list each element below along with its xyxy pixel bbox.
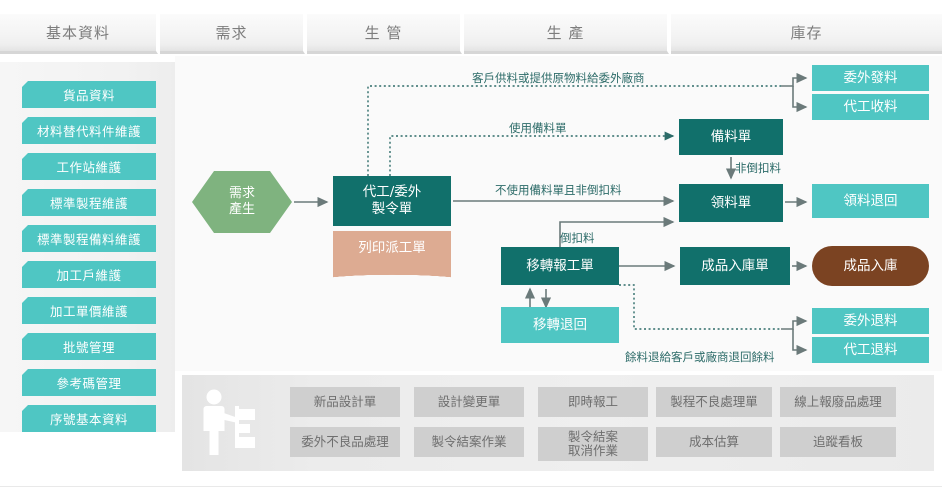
tab-5[interactable]: 庫存 — [671, 14, 942, 54]
function-chip-10[interactable]: 追蹤看板 — [780, 427, 896, 457]
person-flowchart-icon — [194, 385, 260, 461]
flow-node-prep[interactable]: 備料單 — [679, 119, 783, 155]
flow-edge-label-2: 使用備料單 — [509, 120, 567, 136]
flow-node-issueret[interactable]: 領料退回 — [812, 184, 929, 218]
sidebar-item-3[interactable]: 工作站維護 — [22, 153, 156, 180]
sidebar-item-1[interactable]: 貨品資料 — [22, 81, 156, 108]
flow-node-outreturn[interactable]: 委外退料 — [812, 308, 929, 334]
flow-node-fgdoc[interactable]: 成品入庫單 — [680, 247, 790, 285]
flow-node-moveret[interactable]: 移轉退回 — [501, 307, 619, 343]
bottom-function-strip: 新品設計單設計變更單即時報工製程不良處理單線上報廢品處理委外不良品處理製令結案作… — [182, 375, 934, 471]
function-chip-5[interactable]: 線上報廢品處理 — [780, 387, 896, 417]
flow-node-outrecv[interactable]: 代工收料 — [812, 94, 929, 120]
sidebar-item-7[interactable]: 加工單價維護 — [22, 297, 156, 324]
sidebar-item-9[interactable]: 參考碼管理 — [22, 369, 156, 396]
function-chip-4[interactable]: 製程不良處理單 — [656, 387, 772, 417]
footer-divider — [0, 486, 942, 487]
flow-node-issue[interactable]: 領料單 — [679, 184, 783, 222]
flow-edge-label-6: 餘料退給客戶或廠商退回餘料 — [625, 349, 775, 365]
flow-node-printwo[interactable]: 列印派工單 — [333, 231, 451, 283]
function-chip-2[interactable]: 設計變更單 — [414, 387, 524, 417]
sidebar-item-2[interactable]: 材料替代料件維護 — [22, 117, 156, 144]
flow-edge-label-5: 倒扣料 — [560, 230, 595, 246]
module-tabbar: 基本資料需求生 管生 產庫存 — [0, 14, 942, 54]
flow-node-subreturn[interactable]: 代工退料 — [812, 337, 929, 363]
function-chip-3[interactable]: 即時報工 — [538, 387, 648, 417]
flow-edge-label-1: 客戶供料或提供原物料給委外廠商 — [472, 70, 645, 86]
sidebar-panel: 貨品資料材料替代料件維護工作站維護標準製程維護標準製程備料維護加工戶維護加工單價… — [0, 62, 175, 432]
tab-4[interactable]: 生 產 — [464, 14, 669, 54]
sidebar-item-5[interactable]: 標準製程備料維護 — [22, 225, 156, 252]
flow-canvas: 需求 產生代工/委外 製令單列印派工單備料單領料單領料退回委外發料代工收料移轉報… — [175, 56, 942, 371]
flow-node-fgstock[interactable]: 成品入庫 — [812, 246, 929, 286]
sidebar-item-8[interactable]: 批號管理 — [22, 333, 156, 360]
flow-node-movework[interactable]: 移轉報工單 — [501, 247, 619, 285]
function-chip-9[interactable]: 成本估算 — [656, 427, 772, 457]
sidebar-item-10[interactable]: 序號基本資料 — [22, 405, 156, 432]
flowchart-page: 基本資料需求生 管生 產庫存 貨品資料材料替代料件維護工作站維護標準製程維護標準… — [0, 0, 942, 500]
flow-node-outissue[interactable]: 委外發料 — [812, 65, 929, 91]
tab-3[interactable]: 生 管 — [307, 14, 462, 54]
function-chip-1[interactable]: 新品設計單 — [290, 387, 400, 417]
flow-edge-label-4: 非倒扣料 — [735, 160, 781, 176]
sidebar-item-6[interactable]: 加工戶維護 — [22, 261, 156, 288]
function-chip-8[interactable]: 製令結案 取消作業 — [538, 427, 648, 461]
sidebar-item-4[interactable]: 標準製程維護 — [22, 189, 156, 216]
tab-2[interactable]: 需求 — [160, 14, 305, 54]
tab-1[interactable]: 基本資料 — [0, 14, 158, 54]
function-chip-6[interactable]: 委外不良品處理 — [290, 427, 400, 457]
flow-edge-label-3: 不使用備料單且非倒扣料 — [495, 182, 622, 198]
function-chip-7[interactable]: 製令結案作業 — [414, 427, 524, 457]
flow-node-wo[interactable]: 代工/委外 製令單 — [333, 176, 451, 226]
